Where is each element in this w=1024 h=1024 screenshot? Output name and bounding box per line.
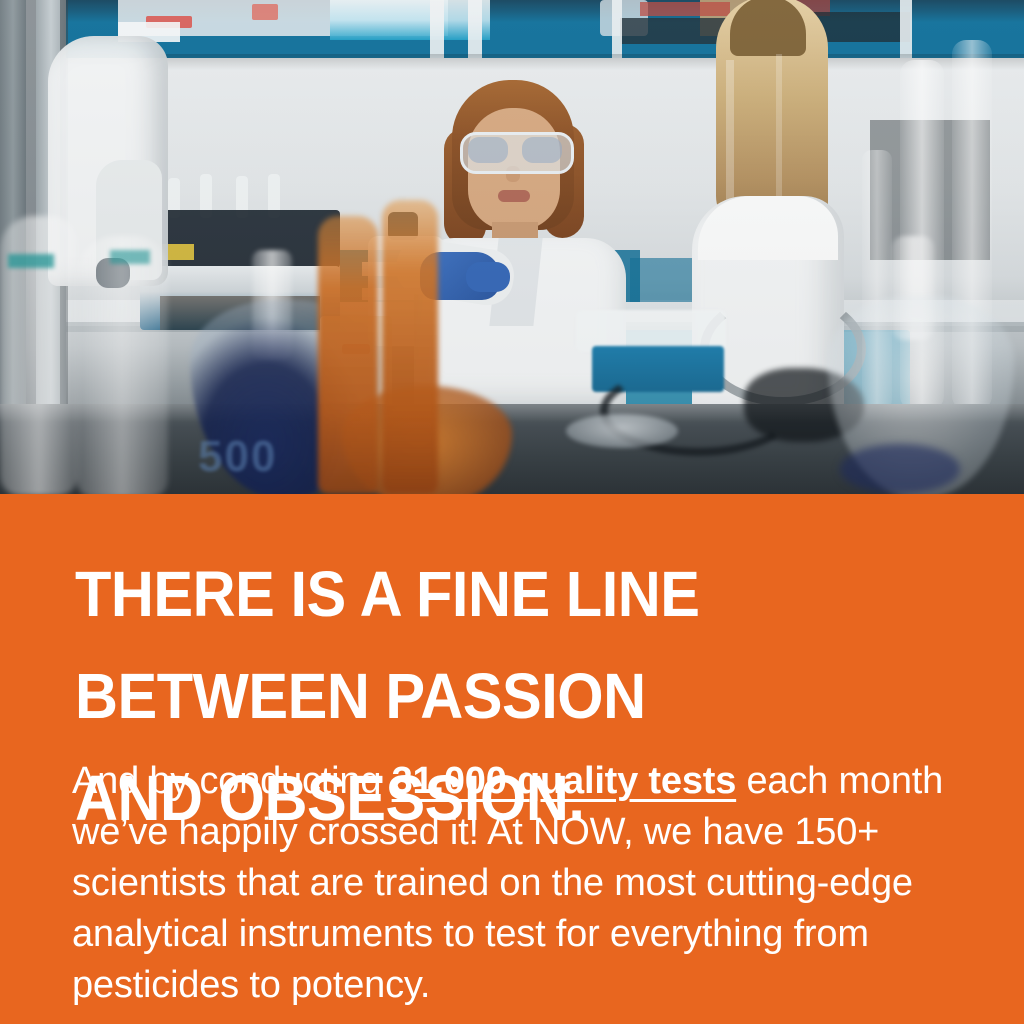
promo-card: 500 THERE IS A FINE LINE BETWEEN PASSION…	[0, 0, 1024, 1024]
orange-text-panel: THERE IS A FINE LINE BETWEEN PASSION AND…	[0, 494, 1024, 1024]
body-text-before: And by conducting	[72, 760, 392, 802]
photo-overlay	[0, 0, 1024, 494]
lab-photo: 500	[0, 0, 1024, 494]
headline-line-1: THERE IS A FINE LINE	[75, 569, 893, 620]
headline-line-2: BETWEEN PASSION	[75, 671, 893, 722]
quality-tests-highlight: 31,000 quality tests	[392, 760, 737, 802]
body-paragraph: And by conducting 31,000 quality tests e…	[72, 756, 952, 1011]
